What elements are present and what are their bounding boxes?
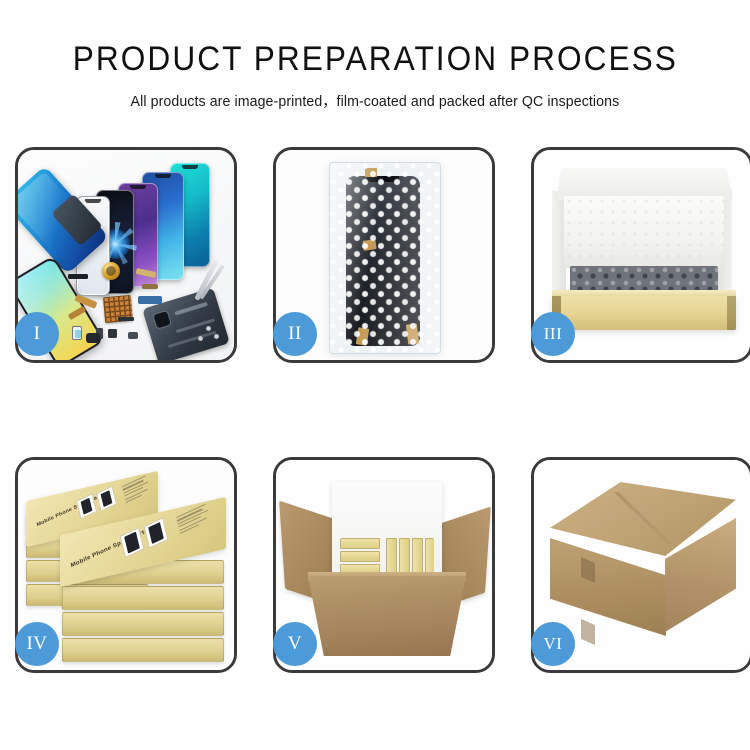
screw-icon — [214, 334, 219, 339]
screw-icon — [206, 326, 211, 331]
step-badge-3: III — [531, 312, 575, 356]
page-header: PRODUCT PREPARATION PROCESS All products… — [0, 0, 750, 130]
product-preparation-infographic: PRODUCT PREPARATION PROCESS All products… — [0, 0, 750, 750]
step-badge-2: II — [273, 312, 317, 356]
sim-tray-icon — [72, 326, 82, 340]
box-product-photo — [144, 517, 169, 548]
step-badge-1: I — [15, 312, 59, 356]
component-bar-icon — [118, 317, 134, 321]
page-title: PRODUCT PREPARATION PROCESS — [72, 40, 677, 79]
step-panel-2: II — [273, 147, 495, 363]
step-badge-4: IV — [15, 622, 59, 666]
carton-tape-patch — [581, 619, 595, 645]
button-component-icon — [128, 332, 138, 339]
step-panel-3: III — [531, 147, 750, 363]
component-bar-icon — [108, 329, 117, 338]
carton-front-panel — [308, 576, 466, 656]
speaker-coin-icon — [102, 262, 120, 280]
step-badge-6: VI — [531, 622, 575, 666]
step-panel-4: Mobile Phone Spare Parts — [15, 457, 237, 673]
component-bar-icon — [68, 274, 88, 279]
carton-left-face — [550, 538, 666, 636]
stacked-box — [62, 638, 224, 662]
step-panel-5: V — [273, 457, 495, 673]
box-front-panel — [552, 296, 736, 330]
box-product-photo — [96, 486, 117, 512]
box-spec-lines — [122, 475, 152, 505]
bag-edge-highlight — [329, 162, 441, 354]
step-badge-5: V — [273, 622, 317, 666]
step-panel-1: I — [15, 147, 237, 363]
yellow-box-item — [340, 551, 380, 562]
speaker-module-icon — [86, 333, 100, 343]
foam-sheet-icon — [564, 196, 724, 268]
stacked-box — [62, 586, 224, 610]
flex-cable-icon — [138, 296, 162, 304]
flex-cable-icon — [142, 284, 158, 289]
process-step-grid: I II — [15, 147, 735, 677]
screw-icon — [198, 336, 203, 341]
box-spec-lines — [176, 503, 212, 536]
bubble-wrap-bag-icon — [329, 162, 441, 354]
step-panel-6: VI — [531, 457, 750, 673]
stacked-box — [62, 612, 224, 636]
page-subtitle: All products are image-printed，film-coat… — [131, 90, 620, 111]
yellow-box-item — [340, 538, 380, 549]
